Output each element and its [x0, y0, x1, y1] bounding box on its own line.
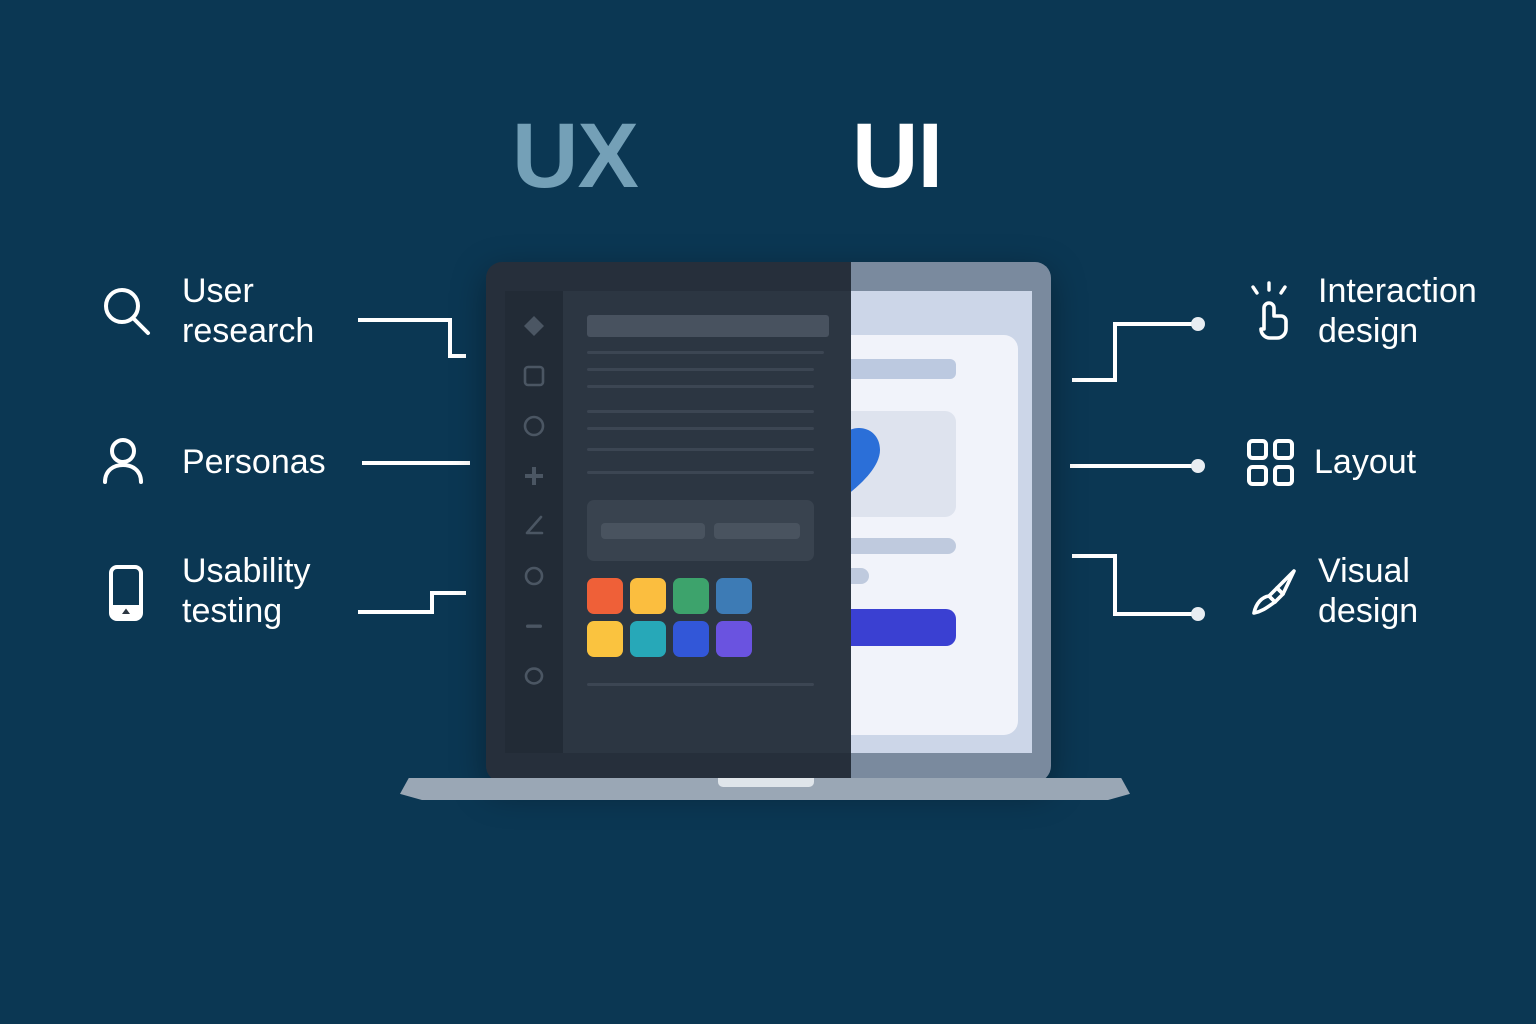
- ui-card: [851, 335, 1018, 735]
- ui-text-placeholder: [851, 538, 956, 554]
- heading-ui: UI: [852, 110, 942, 202]
- laptop-illustration: [400, 262, 1130, 822]
- person-icon: [96, 432, 158, 494]
- connector-dot-visual: [1191, 607, 1205, 621]
- palette-swatch[interactable]: [716, 621, 752, 657]
- ux-toolbar[interactable]: [505, 291, 563, 753]
- feature-label-user-research: User research: [182, 272, 314, 352]
- feature-label-personas: Personas: [182, 443, 326, 483]
- circle-tool-icon[interactable]: [521, 413, 547, 439]
- wireframe-panel: [587, 500, 814, 561]
- feature-label-visual: Visual design: [1318, 552, 1418, 632]
- plus-tool-icon[interactable]: [521, 463, 547, 489]
- wireframe-line: [587, 368, 814, 371]
- diamond-tool-icon[interactable]: [521, 313, 547, 339]
- grid-icon: [1244, 436, 1298, 490]
- laptop-lid: [486, 262, 1051, 782]
- laptop-base-notch: [718, 778, 814, 787]
- paintbrush-icon: [1244, 563, 1302, 621]
- palette-swatch[interactable]: [587, 621, 623, 657]
- connector-dot-layout: [1191, 459, 1205, 473]
- feature-label-interaction: Interaction design: [1318, 272, 1477, 352]
- mobile-phone-icon: [96, 561, 158, 623]
- wireframe-line: [587, 410, 814, 413]
- feature-label-usability: Usability testing: [182, 552, 310, 632]
- palette-swatch[interactable]: [630, 578, 666, 614]
- palette-swatch[interactable]: [673, 621, 709, 657]
- palette-swatch[interactable]: [587, 578, 623, 614]
- feature-personas[interactable]: Personas: [96, 432, 326, 494]
- ui-screen: [851, 291, 1032, 753]
- ui-header-placeholder: [851, 359, 956, 379]
- wireframe-line: [587, 683, 814, 686]
- ux-screen: [505, 291, 851, 753]
- wireframe-chip: [714, 523, 801, 539]
- ellipse-tool-icon[interactable]: [521, 663, 547, 689]
- feature-usability-testing[interactable]: Usability testing: [96, 552, 310, 632]
- dash-tool-icon[interactable]: [521, 613, 547, 639]
- wireframe-line: [587, 427, 814, 430]
- ui-text-placeholder: [851, 568, 869, 584]
- ui-screen-content: [851, 291, 1032, 753]
- wireframe-line: [587, 471, 814, 474]
- angle-pen-tool-icon[interactable]: [521, 513, 547, 539]
- feature-visual-design[interactable]: Visual design: [1244, 552, 1418, 632]
- palette-swatch[interactable]: [716, 578, 752, 614]
- ui-cta-button[interactable]: [851, 609, 956, 646]
- magnifier-icon: [96, 281, 158, 343]
- ui-hero-panel: [851, 411, 956, 517]
- feature-label-layout: Layout: [1314, 443, 1416, 483]
- feature-layout[interactable]: Layout: [1244, 436, 1416, 490]
- square-tool-icon[interactable]: [521, 363, 547, 389]
- wireframe-line: [587, 385, 814, 388]
- wireframe-chip: [601, 523, 705, 539]
- feature-user-research[interactable]: User research: [96, 272, 314, 352]
- tap-hand-icon: [1244, 281, 1302, 343]
- color-palette[interactable]: [587, 578, 829, 657]
- heading-ux: UX: [512, 110, 638, 202]
- heart-icon: [851, 424, 884, 504]
- circle-small-tool-icon[interactable]: [521, 563, 547, 589]
- palette-swatch[interactable]: [673, 578, 709, 614]
- wireframe-line: [587, 448, 814, 451]
- ux-wireframe-canvas: [563, 291, 851, 753]
- wireframe-title-bar: [587, 315, 829, 337]
- feature-interaction-design[interactable]: Interaction design: [1244, 272, 1477, 352]
- palette-swatch[interactable]: [630, 621, 666, 657]
- connector-dot-interaction: [1191, 317, 1205, 331]
- wireframe-line: [587, 351, 824, 354]
- infographic-canvas: UX UI User research: [0, 0, 1536, 1024]
